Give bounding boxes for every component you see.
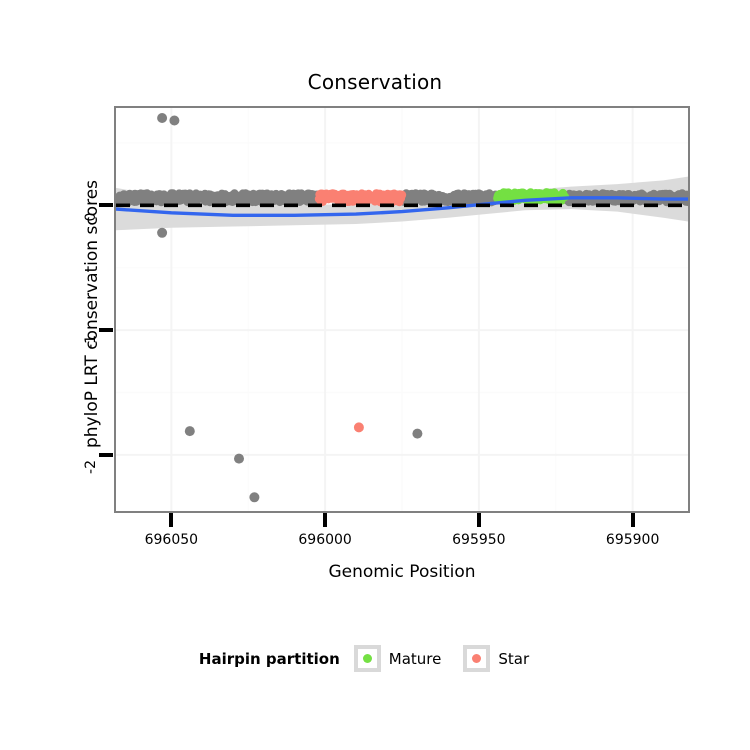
- legend-item[interactable]: Star: [463, 645, 529, 672]
- x-tick-label: 696000: [280, 532, 370, 548]
- legend: Hairpin partition MatureStar: [0, 645, 750, 672]
- x-tick-label: 695950: [434, 532, 524, 548]
- y-tick-label: -1: [83, 329, 99, 355]
- legend-key-swatch: [463, 645, 490, 672]
- outlier-point: [157, 113, 167, 123]
- plot-area: [116, 108, 688, 511]
- chart-root: Conservation phyloP LRT conservation sco…: [0, 0, 750, 750]
- outlier-point: [234, 454, 244, 464]
- legend-title: Hairpin partition: [199, 650, 340, 668]
- x-tick-mark: [631, 513, 635, 527]
- y-tick-mark: [99, 453, 113, 457]
- outlier-point: [157, 228, 167, 238]
- outlier-point: [185, 426, 195, 436]
- outlier-point: [412, 429, 422, 439]
- outlier-point: [169, 116, 179, 126]
- x-tick-mark: [477, 513, 481, 527]
- x-tick-mark: [169, 513, 173, 527]
- y-tick-mark: [99, 203, 113, 207]
- outlier-point: [354, 422, 364, 432]
- legend-label: Mature: [389, 650, 442, 668]
- x-tick-label: 695900: [588, 532, 678, 548]
- x-axis-label: Genomic Position: [114, 562, 690, 582]
- legend-dot-icon: [363, 654, 372, 663]
- legend-key-swatch: [354, 645, 381, 672]
- x-tick-mark: [323, 513, 327, 527]
- x-tick-label: 696050: [126, 532, 216, 548]
- y-tick-label: -2: [83, 454, 99, 480]
- legend-item[interactable]: Mature: [354, 645, 442, 672]
- legend-dot-icon: [472, 654, 481, 663]
- legend-items: MatureStar: [354, 645, 551, 672]
- data-point: [398, 191, 406, 199]
- plot-panel: [114, 106, 690, 513]
- chart-title: Conservation: [0, 70, 750, 94]
- y-tick-label: 0: [83, 204, 99, 230]
- outlier-point: [249, 492, 259, 502]
- legend-label: Star: [498, 650, 529, 668]
- y-tick-mark: [99, 328, 113, 332]
